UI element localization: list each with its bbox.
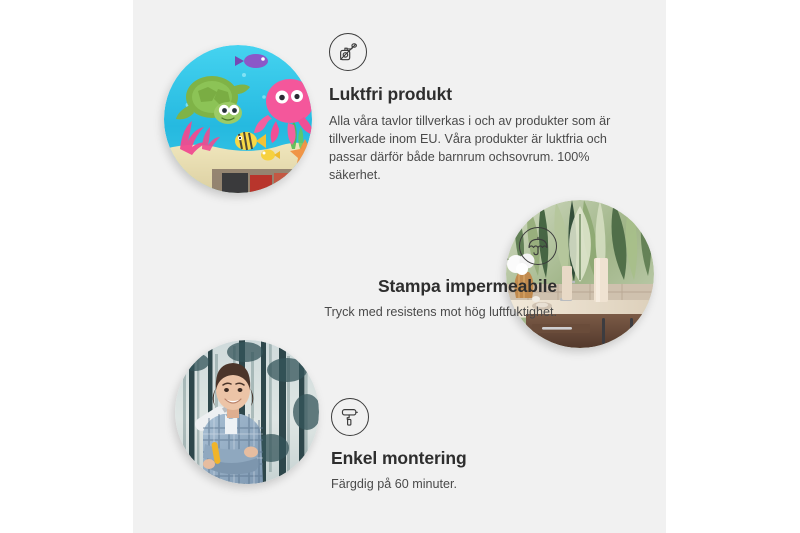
no-spray-bottle-icon bbox=[329, 33, 367, 71]
umbrella-icon bbox=[519, 227, 557, 265]
feature-waterproof-icon-wrap bbox=[217, 227, 557, 265]
feature-waterproof: Stampa impermeabile Tryck med resistens … bbox=[217, 227, 557, 322]
feature-easy-assembly: Enkel montering Färgdig på 60 minuter. bbox=[331, 398, 631, 494]
feature-odourless: Luktfri produkt Alla våra tavlor tillver… bbox=[329, 33, 629, 184]
underwater-cartoon-photo bbox=[164, 45, 312, 193]
paint-roller-icon bbox=[331, 398, 369, 436]
feature-easy-assembly-description: Färgdig på 60 minuter. bbox=[331, 476, 631, 494]
feature-easy-assembly-title: Enkel montering bbox=[331, 448, 631, 470]
feature-waterproof-description: Tryck med resistens mot hög luftfuktighe… bbox=[217, 304, 557, 322]
feature-odourless-description: Alla våra tavlor tillverkas i och av pro… bbox=[329, 113, 619, 185]
woman-with-roller-photo-image bbox=[175, 340, 319, 484]
underwater-cartoon-photo-image bbox=[164, 45, 312, 193]
page-root: Luktfri produkt Alla våra tavlor tillver… bbox=[0, 0, 800, 533]
feature-easy-assembly-icon-wrap bbox=[331, 398, 631, 436]
feature-odourless-title: Luktfri produkt bbox=[329, 84, 629, 106]
content-panel: Luktfri produkt Alla våra tavlor tillver… bbox=[133, 0, 666, 533]
feature-waterproof-title: Stampa impermeabile bbox=[217, 276, 557, 298]
feature-odourless-icon-wrap bbox=[329, 33, 629, 71]
woman-with-roller-photo bbox=[175, 340, 319, 484]
